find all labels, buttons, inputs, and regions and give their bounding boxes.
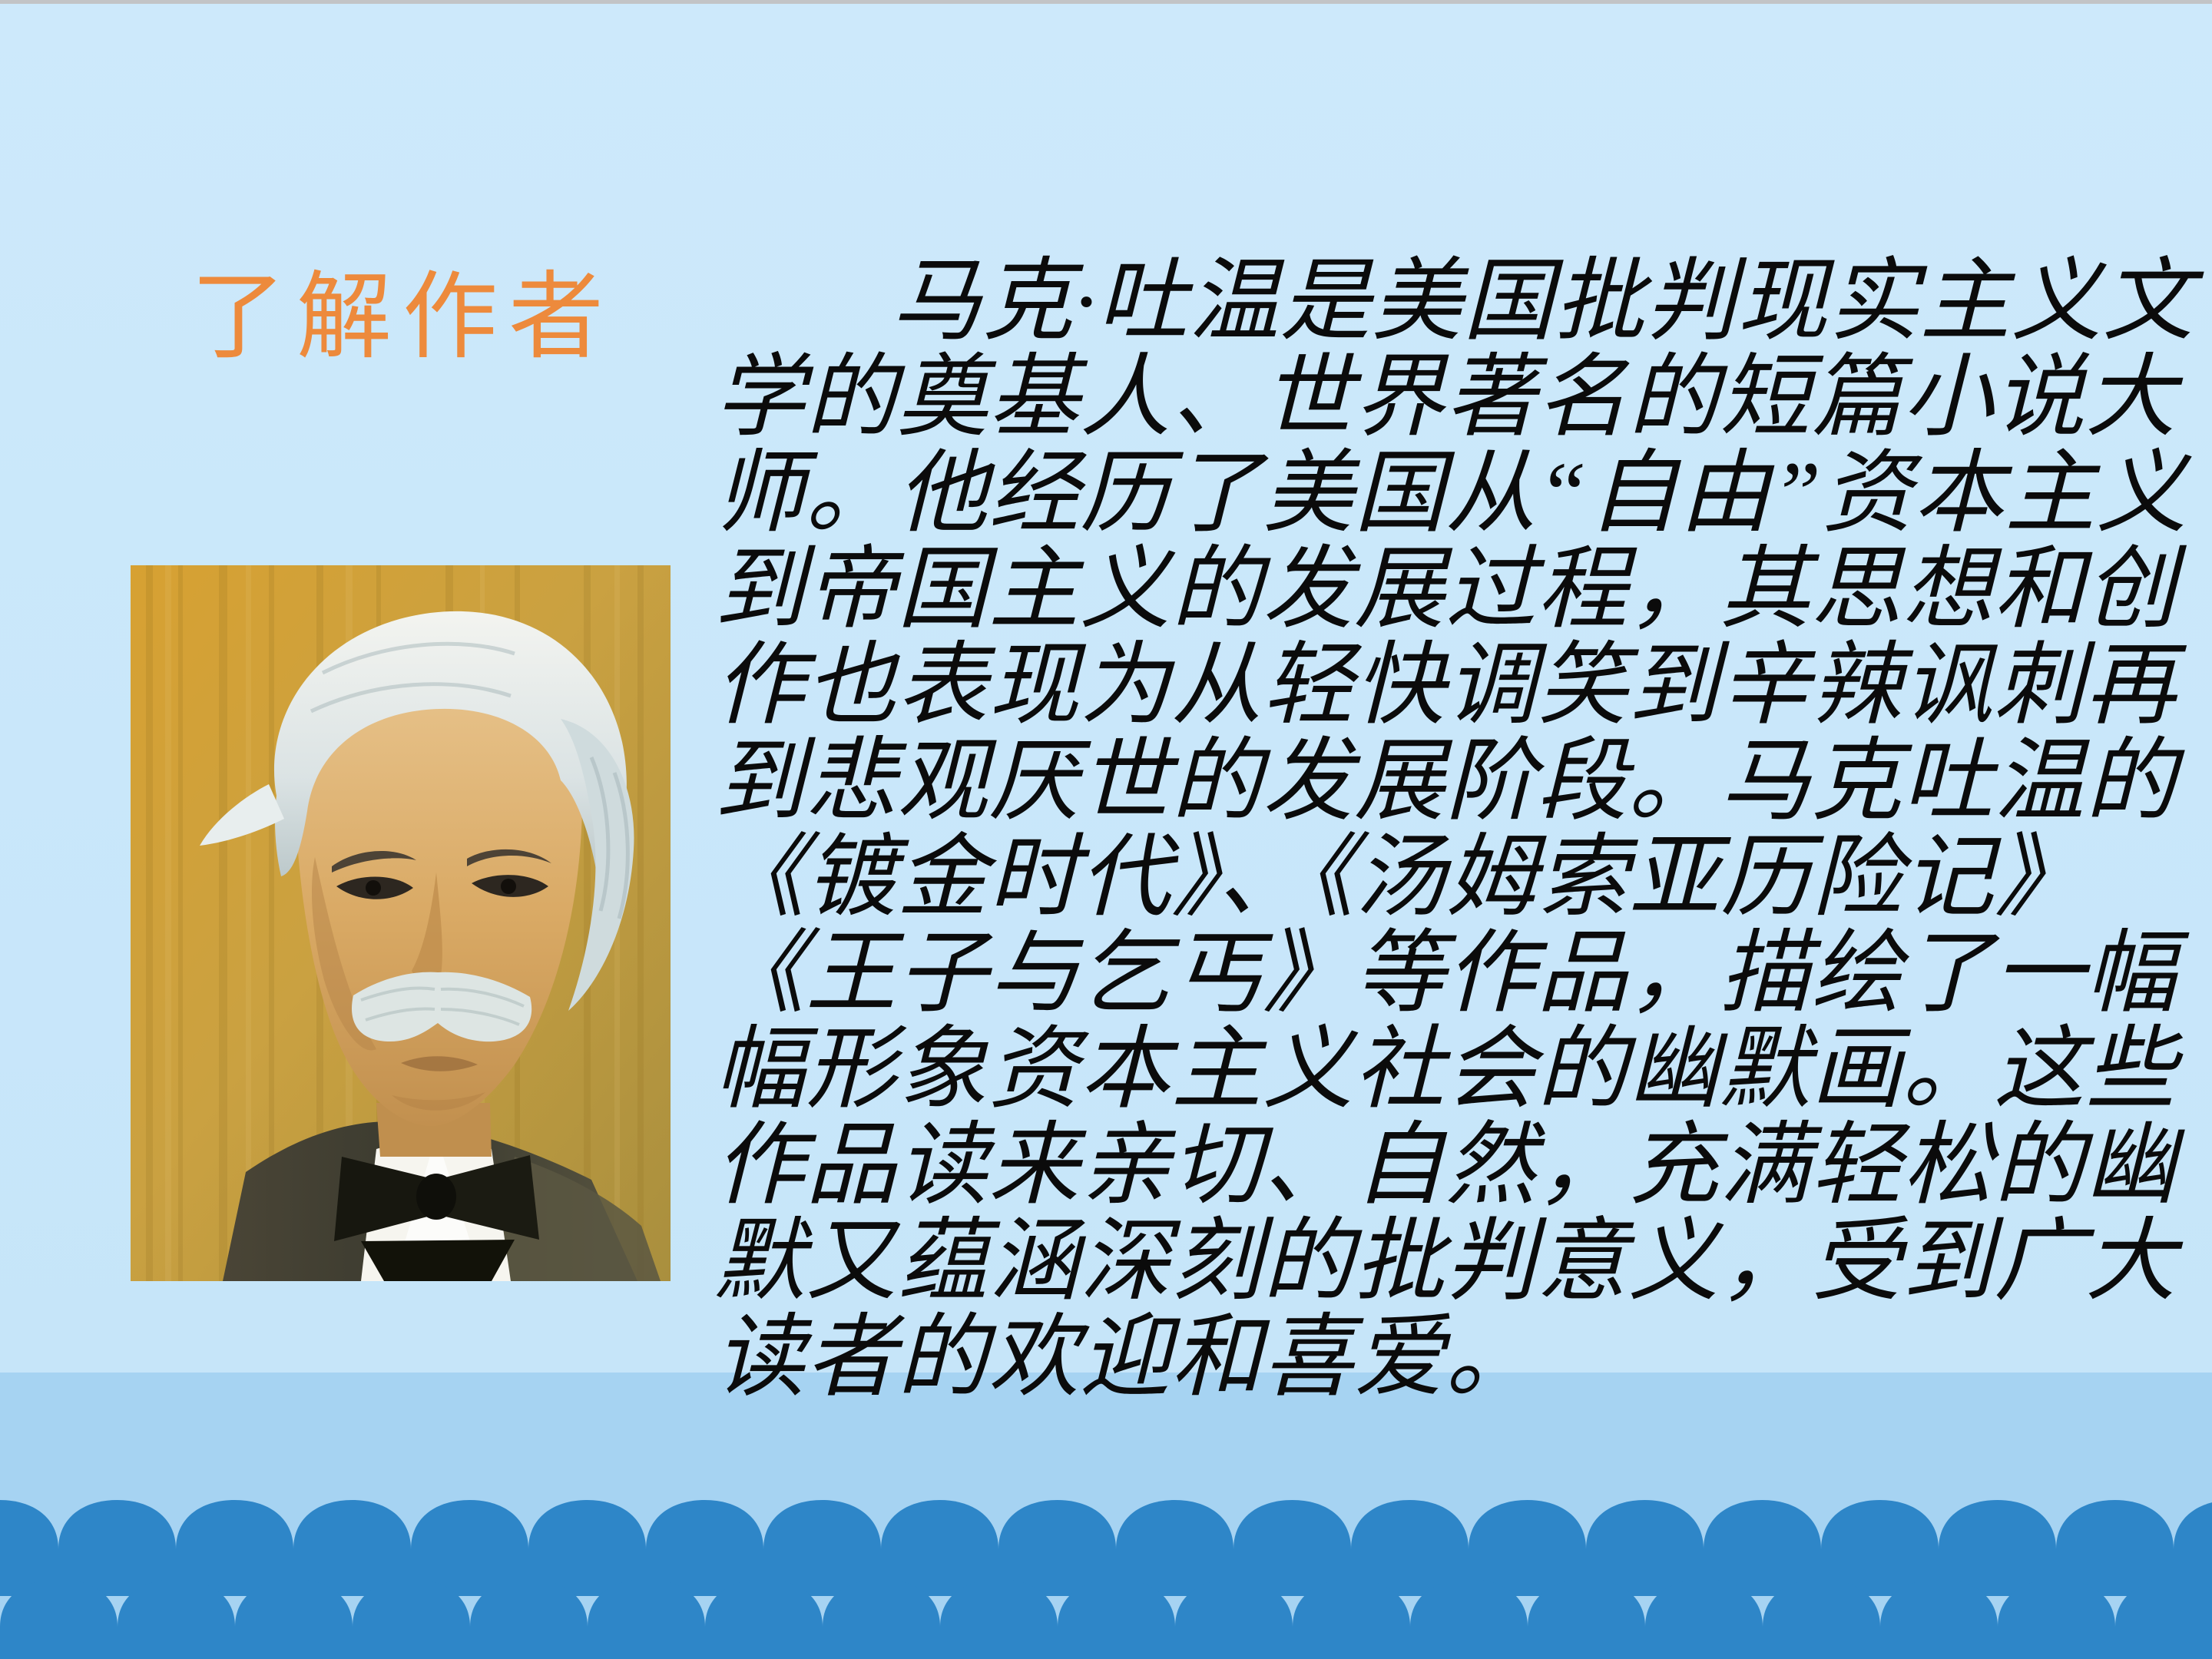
author-portrait	[131, 565, 671, 1281]
slide-canvas: 了解作者	[0, 0, 2212, 1659]
slide-top-border	[0, 0, 2212, 4]
section-title: 了解作者	[190, 270, 621, 366]
author-biography-paragraph: 马克·吐温是美国批判现实主义文学的奠基人、世界著名的短篇小说大师。他经历了美国从…	[714, 253, 2197, 1406]
scallop-decoration-row-2	[0, 1579, 2212, 1659]
